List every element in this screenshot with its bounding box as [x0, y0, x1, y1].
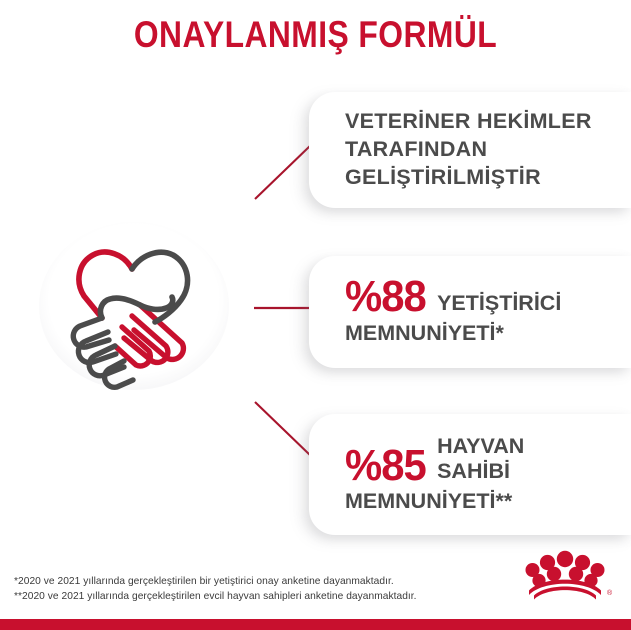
- footnote-line-1: *2020 ve 2021 yıllarında gerçekleştirile…: [14, 575, 417, 590]
- footnotes: *2020 ve 2021 yıllarında gerçekleştirile…: [14, 575, 417, 605]
- stat-85-row: %85 HAYVAN SAHİBİ: [345, 434, 619, 486]
- connector-line-88: [253, 304, 315, 312]
- stat-85-label-bottom: SAHİBİ: [437, 459, 524, 484]
- page-title: ONAYLANMIŞ FORMÜL: [44, 14, 587, 56]
- bottom-accent-bar: [0, 619, 631, 630]
- stat-88-percent: %88: [345, 277, 426, 317]
- stat-88-label: YETİŞTİRİCİ: [437, 291, 561, 318]
- stat-85-label-top: HAYVAN: [437, 434, 524, 458]
- card-vet-line-2: TARAFINDAN: [345, 136, 619, 164]
- stat-85-tail: MEMNUNİYETİ**: [345, 489, 619, 515]
- registered-mark: ®: [607, 589, 613, 597]
- royal-canin-crown-logo: ®: [517, 544, 613, 608]
- connector-line-85: [253, 398, 315, 460]
- card-vet-line-3: GELİŞTİRİLMİŞTİR: [345, 164, 619, 192]
- stat-88-row: %88 YETİŞTİRİCİ: [345, 277, 619, 317]
- card-vet-developed: VETERİNER HEKİMLER TARAFINDAN GELİŞTİRİL…: [309, 92, 631, 208]
- card-vet-line-1: VETERİNER HEKİMLER: [345, 108, 619, 136]
- stat-88-tail: MEMNUNİYETİ*: [345, 321, 619, 347]
- connector-line-vet: [253, 141, 315, 203]
- heart-handshake-icon: [36, 222, 232, 392]
- footnote-line-2: **2020 ve 2021 yıllarında gerçekleştiril…: [14, 590, 417, 605]
- card-owner-satisfaction: %85 HAYVAN SAHİBİ MEMNUNİYETİ**: [309, 414, 631, 535]
- stat-85-percent: %85: [345, 446, 426, 486]
- card-breeder-satisfaction: %88 YETİŞTİRİCİ MEMNUNİYETİ*: [309, 256, 631, 368]
- stat-85-label: HAYVAN SAHİBİ: [437, 434, 524, 486]
